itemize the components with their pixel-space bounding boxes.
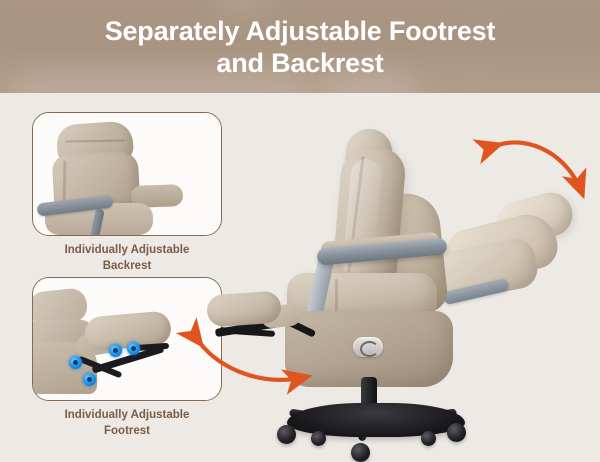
banner-header: Separately Adjustable Footrest and Backr… (0, 0, 600, 93)
product-feature-banner: Separately Adjustable Footrest and Backr… (0, 0, 600, 450)
footrest-extend-arrow-icon (180, 325, 330, 405)
feature-image-frame-backrest (32, 112, 222, 236)
feature-caption-backrest: Individually Adjustable Backrest (32, 243, 222, 274)
chair-brand-emblem-icon (353, 337, 383, 357)
pivot-joint-highlight-1 (69, 356, 82, 369)
page-title: Separately Adjustable Footrest and Backr… (0, 16, 600, 80)
backrest-closeup-illustration (33, 113, 221, 235)
feature-caption-backrest-line-2: Backrest (32, 259, 222, 275)
feature-caption-footrest: Individually Adjustable Footrest (32, 408, 222, 439)
chair-caster-1 (277, 425, 296, 444)
chair-caster-5 (421, 431, 436, 446)
backrest-recline-arrow-icon (480, 131, 600, 211)
chair-caster-3 (351, 443, 370, 462)
pivot-joint-highlight-4 (127, 342, 140, 355)
page-title-line-1: Separately Adjustable Footrest (105, 16, 496, 46)
footrest-pad (206, 290, 282, 327)
pivot-joint-highlight-2 (83, 373, 96, 386)
page-title-line-2: and Backrest (0, 48, 600, 80)
feature-card-backrest: Individually Adjustable Backrest (32, 112, 222, 274)
feature-caption-footrest-line-2: Footrest (32, 424, 222, 440)
feature-caption-backrest-line-1: Individually Adjustable (65, 244, 190, 256)
product-chair-image (225, 125, 600, 450)
chair-caster-4 (311, 431, 326, 446)
feature-caption-footrest-line-1: Individually Adjustable (65, 409, 190, 421)
chair-caster-2 (447, 423, 466, 442)
pivot-joint-highlight-3 (109, 344, 122, 357)
